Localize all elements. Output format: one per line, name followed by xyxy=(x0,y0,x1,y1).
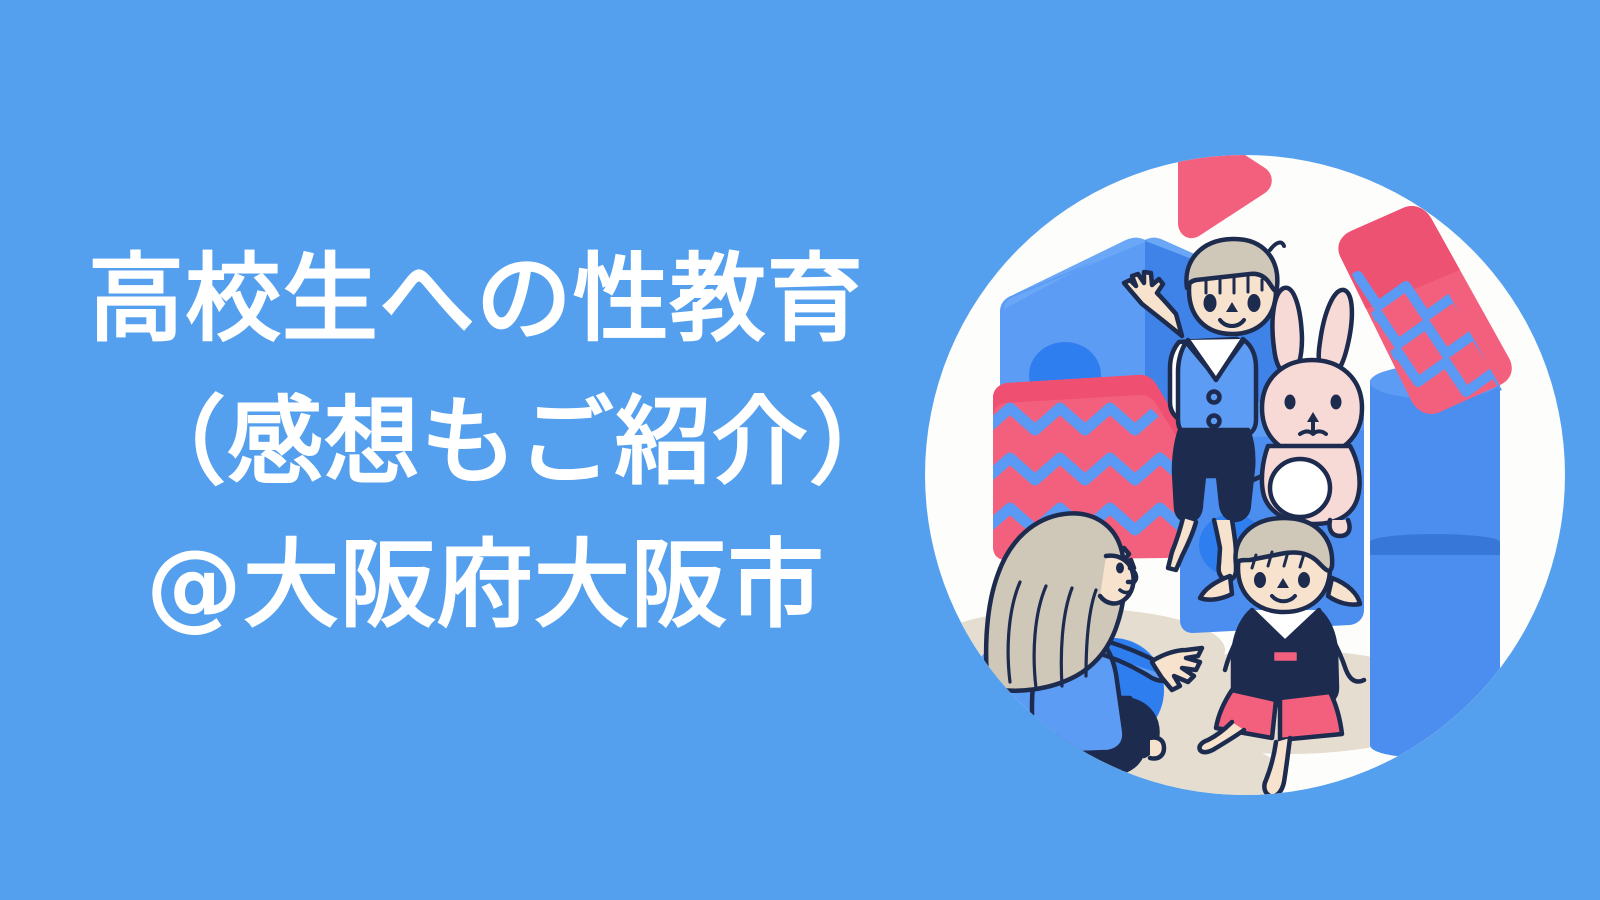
page-title: 高校生への性教育 （感想もご紹介） @大阪府大阪市 xyxy=(78,228,888,657)
illustration xyxy=(880,90,1600,820)
banner-root: 高校生への性教育 （感想もご紹介） @大阪府大阪市 xyxy=(0,0,1600,900)
title-line-2: （感想もご紹介） xyxy=(78,371,888,514)
title-line-3: @大阪府大阪市 xyxy=(78,514,888,657)
title-line-1: 高校生への性教育 xyxy=(78,228,888,371)
